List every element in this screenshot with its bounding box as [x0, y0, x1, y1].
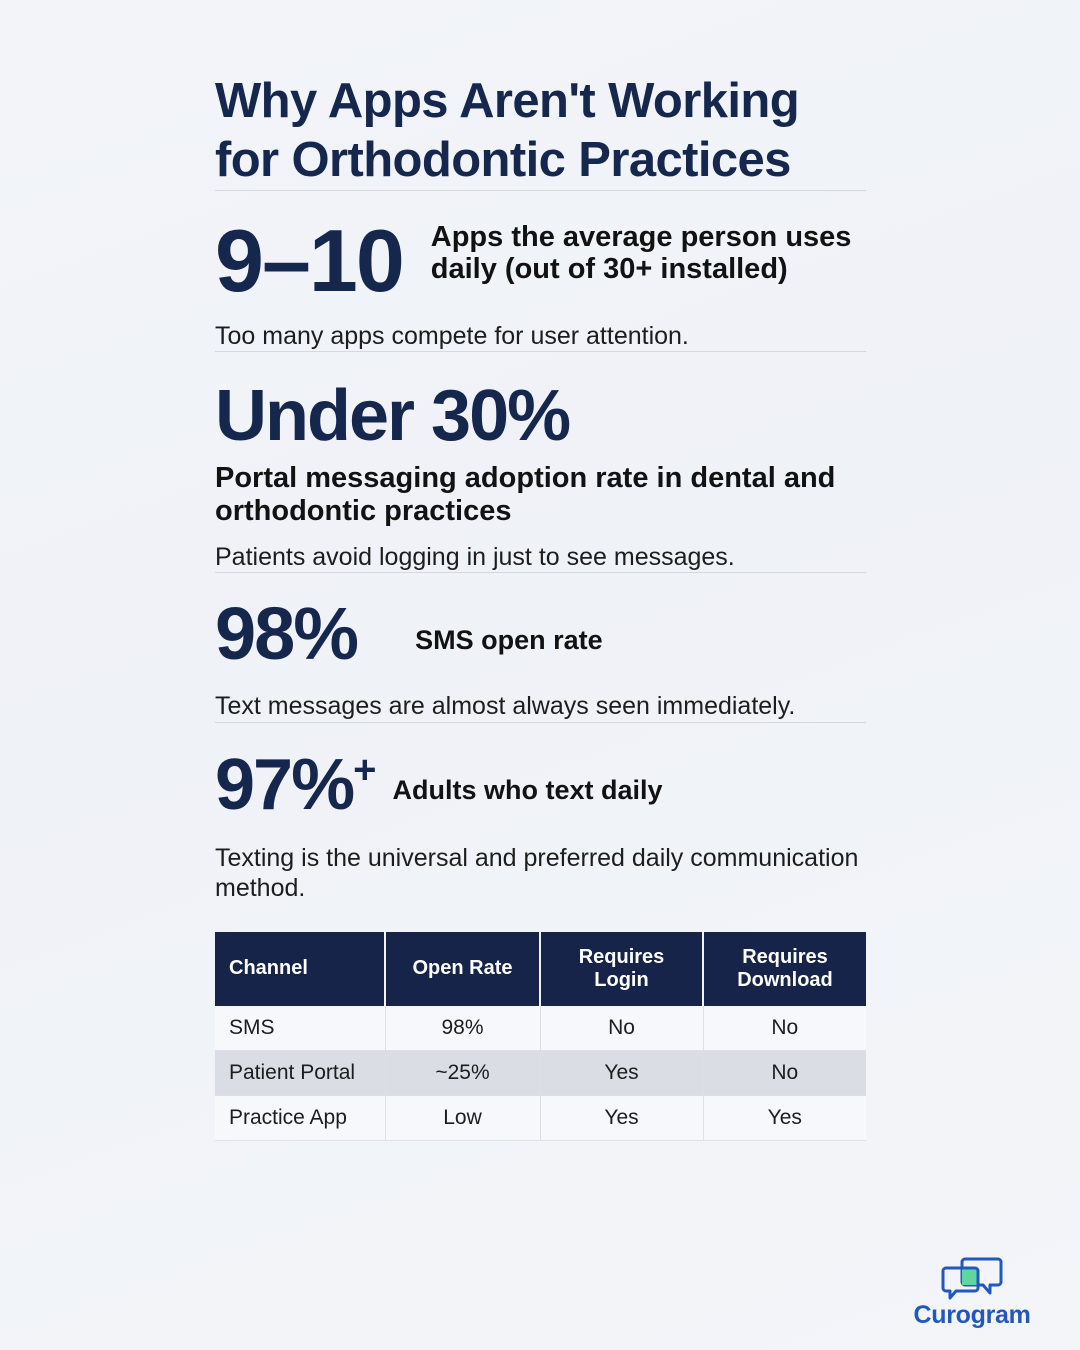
infographic-content: Why Apps Aren't Working for Orthodontic … — [215, 0, 866, 1141]
cell-open-rate: 98% — [385, 1006, 540, 1051]
stat-label: Apps the average person uses daily (out … — [431, 213, 866, 287]
channel-comparison-table: Channel Open Rate Requires Login Require… — [215, 932, 866, 1141]
table-header-requires-download: Requires Download — [703, 932, 866, 1006]
table-row: Practice App Low Yes Yes — [215, 1095, 866, 1140]
chat-bubbles-icon — [940, 1255, 1004, 1301]
stat-note: Too many apps compete for user attention… — [215, 305, 866, 352]
table-header-row: Channel Open Rate Requires Login Require… — [215, 932, 866, 1006]
cell-requires-login: No — [540, 1006, 703, 1051]
brand-wordmark: Curogram — [892, 1303, 1052, 1328]
table-header-requires-login: Requires Login — [540, 932, 703, 1006]
table-header-open-rate: Open Rate — [385, 932, 540, 1006]
table-row: Patient Portal ~25% Yes No — [215, 1050, 866, 1095]
cell-channel: SMS — [215, 1006, 385, 1051]
page-title: Why Apps Aren't Working for Orthodontic … — [215, 0, 866, 190]
stat-label: Adults who text daily — [392, 749, 662, 806]
cell-requires-download: No — [703, 1050, 866, 1095]
stat-number-value: 97% — [215, 745, 353, 825]
cell-channel: Patient Portal — [215, 1050, 385, 1095]
stat-block-sms-open-rate: 98% SMS open rate Text messages are almo… — [215, 573, 866, 722]
brand-logo: Curogram — [892, 1255, 1052, 1328]
cell-requires-login: Yes — [540, 1050, 703, 1095]
stat-note: Patients avoid logging in just to see me… — [215, 528, 866, 573]
table-header-channel: Channel — [215, 932, 385, 1006]
stat-block-portal-adoption: Under 30% Portal messaging adoption rate… — [215, 352, 866, 572]
cell-requires-login: Yes — [540, 1095, 703, 1140]
stat-number: 9–10 — [215, 213, 403, 305]
stat-row: 9–10 Apps the average person uses daily … — [215, 213, 866, 305]
cell-requires-download: Yes — [703, 1095, 866, 1140]
table-row: SMS 98% No No — [215, 1006, 866, 1051]
infographic-canvas: Why Apps Aren't Working for Orthodontic … — [0, 0, 1080, 1350]
cell-requires-download: No — [703, 1006, 866, 1051]
stat-label: SMS open rate — [415, 597, 603, 656]
stat-block-adults-texting: 97%+ Adults who text daily Texting is th… — [215, 723, 866, 904]
stat-number-suffix: + — [353, 748, 376, 792]
stat-label: Portal messaging adoption rate in dental… — [215, 452, 866, 528]
stat-row: 98% SMS open rate — [215, 597, 866, 671]
stat-number: Under 30% — [215, 380, 866, 452]
stat-number: 98% — [215, 597, 357, 671]
accent-square — [962, 1269, 978, 1285]
stat-row: 97%+ Adults who text daily — [215, 749, 866, 821]
cell-channel: Practice App — [215, 1095, 385, 1140]
stat-note: Texting is the universal and preferred d… — [215, 821, 866, 904]
stat-number: 97%+ — [215, 749, 376, 821]
stat-note: Text messages are almost always seen imm… — [215, 671, 866, 722]
cell-open-rate: ~25% — [385, 1050, 540, 1095]
stat-block-apps-per-day: 9–10 Apps the average person uses daily … — [215, 191, 866, 352]
cell-open-rate: Low — [385, 1095, 540, 1140]
